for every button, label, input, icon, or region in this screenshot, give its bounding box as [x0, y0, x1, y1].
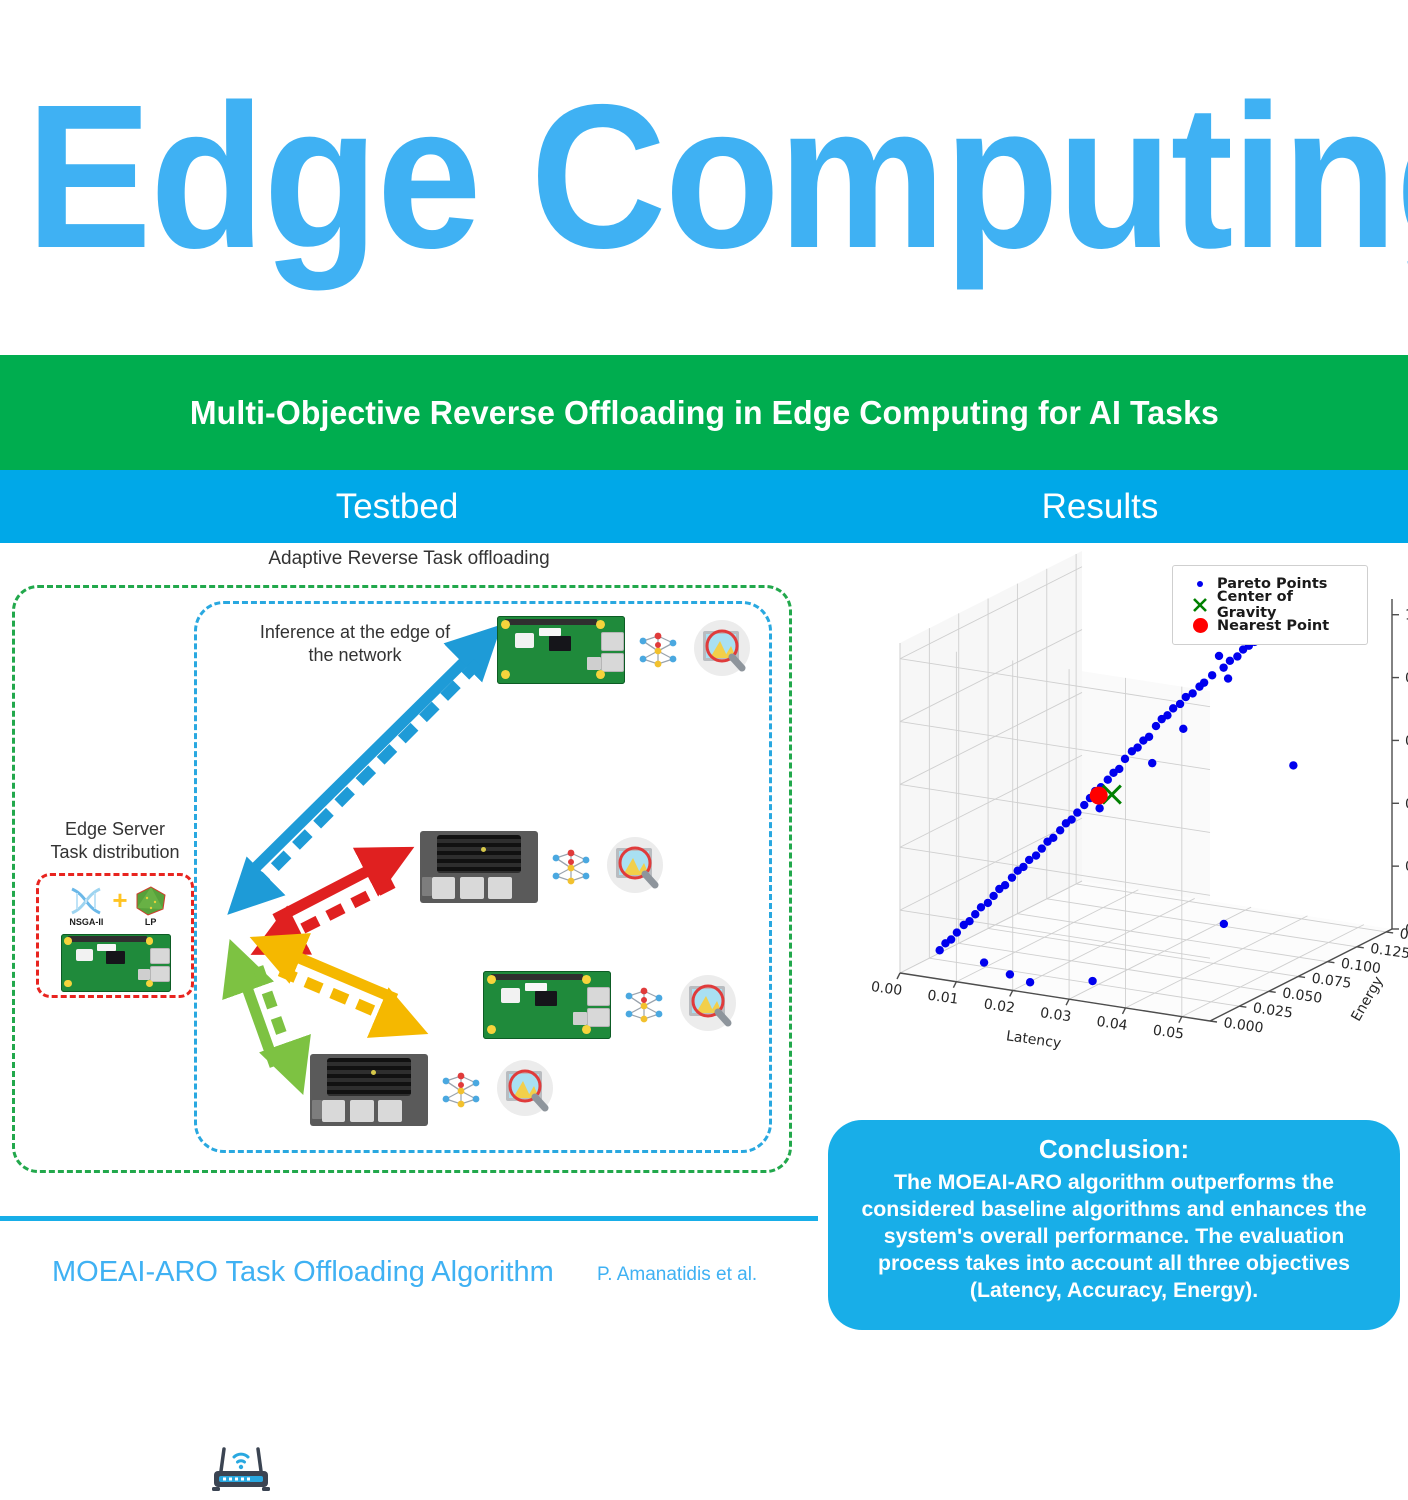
pareto-point: [1026, 978, 1034, 986]
conclusion-box: Conclusion: The MOEAI-ARO algorithm outp…: [828, 1120, 1400, 1330]
edge-server-label-line2: Task distribution: [30, 841, 200, 864]
pareto-point: [1158, 715, 1166, 723]
pareto-point: [953, 928, 961, 936]
plus-sign: +: [112, 887, 127, 913]
section-banner: Testbed Results: [0, 470, 1408, 543]
pareto-point: [1128, 747, 1136, 755]
legend-label: Nearest Point: [1217, 618, 1329, 634]
pareto-point: [1148, 759, 1156, 767]
pareto-point: [1104, 776, 1112, 784]
testbed-panel: Adaptive Reverse Task offloading Inferen…: [0, 543, 818, 1215]
pareto-point: [1169, 704, 1177, 712]
results-panel: 0.000.010.020.030.040.050.0000.0250.0500…: [820, 543, 1408, 1103]
svg-text:0.03: 0.03: [1039, 1005, 1072, 1025]
inference-note: Inference at the edge of the network: [250, 621, 460, 666]
svg-text:0.075: 0.075: [1311, 971, 1353, 992]
pareto-point: [1220, 920, 1228, 928]
red-circle-icon: [1183, 618, 1217, 633]
svg-text:0.100: 0.100: [1340, 956, 1382, 977]
pareto-point: [984, 899, 992, 907]
legend-item-center-of-gravity: Center of Gravity: [1183, 594, 1357, 615]
neural-network-icon: [621, 984, 667, 1026]
image-search-icon: [494, 1059, 556, 1121]
green-x-icon: [1183, 596, 1217, 614]
pareto-point: [1182, 693, 1190, 701]
pareto-point: [941, 939, 949, 947]
pareto-point: [1073, 808, 1081, 816]
neural-network-icon: [635, 629, 681, 671]
wifi-router-icon: [210, 1443, 272, 1500]
legend-label: Center of Gravity: [1217, 589, 1357, 621]
conclusion-heading: Conclusion:: [844, 1134, 1384, 1165]
algorithm-nsga2: NSGA-II: [66, 886, 106, 927]
edge-server-box: NSGA-II + LP: [36, 873, 194, 998]
pareto-point: [977, 903, 985, 911]
raspberry-pi-board: [497, 616, 625, 684]
y-axis-label: Energy: [1348, 974, 1386, 1024]
pareto-point: [1219, 663, 1227, 671]
pareto-point: [1088, 977, 1096, 985]
svg-text:0.04: 0.04: [1095, 1014, 1128, 1034]
pareto-point: [960, 921, 968, 929]
pareto-point: [935, 946, 943, 954]
edge-server-label: Edge Server Task distribution: [30, 818, 200, 863]
pareto-point: [1038, 844, 1046, 852]
section-label-results: Results: [880, 470, 1320, 543]
svg-text:0.00: 0.00: [870, 979, 903, 999]
pareto-point: [1062, 819, 1070, 827]
pareto-point: [980, 958, 988, 966]
pareto-point: [1179, 725, 1187, 733]
jetson-nano-board: [310, 1054, 428, 1126]
testbed-caption: Adaptive Reverse Task offloading: [0, 548, 818, 570]
image-search-icon: [677, 974, 739, 1036]
pareto-point: [1215, 652, 1223, 660]
dna-helix-icon: [66, 886, 106, 916]
pareto-point: [1121, 755, 1129, 763]
section-label-testbed: Testbed: [172, 470, 622, 543]
pareto-point: [1233, 652, 1241, 660]
svg-text:0.025: 0.025: [1252, 1000, 1294, 1021]
image-search-icon: [691, 619, 753, 681]
algorithm-nsga2-label: NSGA-II: [69, 917, 103, 927]
device-jetson-nano-2: [310, 1054, 556, 1126]
pareto-point: [1006, 970, 1014, 978]
pareto-point: [1195, 682, 1203, 690]
x-axis-label: Latency: [1005, 1028, 1062, 1052]
footer-algorithm-label: MOEAI-ARO Task Offloading Algorithm: [52, 1256, 554, 1289]
pareto-point: [995, 885, 1003, 893]
footer-authors: P. Amanatidis et al.: [597, 1264, 757, 1286]
paper-title-banner: Multi-Objective Reverse Offloading in Ed…: [0, 355, 1408, 470]
pareto-point: [1032, 851, 1040, 859]
pareto-point: [1226, 657, 1234, 665]
pareto-point: [1080, 801, 1088, 809]
hero-title-area: Edge Computing: [0, 0, 1408, 355]
pareto-point: [1139, 736, 1147, 744]
svg-text:0.01: 0.01: [926, 988, 959, 1008]
svg-text:0.05: 0.05: [1152, 1023, 1185, 1043]
svg-text:0.000: 0.000: [1222, 1015, 1264, 1036]
pareto-point: [1095, 804, 1103, 812]
pareto-point: [1176, 700, 1184, 708]
pareto-point: [1152, 722, 1160, 730]
jetson-nano-board: [420, 831, 538, 903]
device-raspberry-pi-1: [497, 616, 753, 684]
pareto-point: [1109, 769, 1117, 777]
pareto-dot-icon: [1183, 581, 1217, 587]
svg-text:0.050: 0.050: [1281, 985, 1323, 1006]
inference-note-line1: Inference at the edge of the network: [250, 621, 460, 666]
algorithm-lp: LP: [134, 886, 168, 927]
pareto-point: [1043, 837, 1051, 845]
pareto-point: [989, 892, 997, 900]
edge-server-label-line1: Edge Server: [30, 818, 200, 841]
pareto-point: [1056, 826, 1064, 834]
algorithm-row: NSGA-II + LP: [47, 882, 187, 930]
pareto-point: [1008, 873, 1016, 881]
conclusion-body: The MOEAI-ARO algorithm outperforms the …: [847, 1169, 1382, 1304]
page-title: Edge Computing: [26, 80, 1408, 275]
svg-text:0.02: 0.02: [983, 996, 1016, 1016]
pareto-point: [971, 910, 979, 918]
pareto-point: [1289, 761, 1297, 769]
chart-legend: Pareto Points Center of Gravity Nearest …: [1172, 565, 1368, 645]
paper-title: Multi-Objective Reverse Offloading in Ed…: [190, 394, 1219, 432]
device-raspberry-pi-2: [483, 971, 739, 1039]
pareto-point: [1208, 671, 1216, 679]
pareto-point: [1239, 645, 1247, 653]
nearest-point-marker: [1090, 787, 1108, 805]
neural-network-icon: [548, 846, 594, 888]
pareto-point: [1224, 674, 1232, 682]
polyhedron-icon: [134, 886, 168, 916]
svg-text:0.125: 0.125: [1369, 941, 1408, 962]
pareto-point: [1025, 856, 1033, 864]
pareto-point: [1014, 867, 1022, 875]
edge-server-raspberry-pi: [61, 934, 171, 992]
neural-network-icon: [438, 1069, 484, 1111]
image-search-icon: [604, 836, 666, 898]
raspberry-pi-board: [483, 971, 611, 1039]
footer-divider: [0, 1216, 818, 1221]
device-jetson-nano-1: [420, 831, 666, 903]
algorithm-lp-label: LP: [145, 917, 157, 927]
